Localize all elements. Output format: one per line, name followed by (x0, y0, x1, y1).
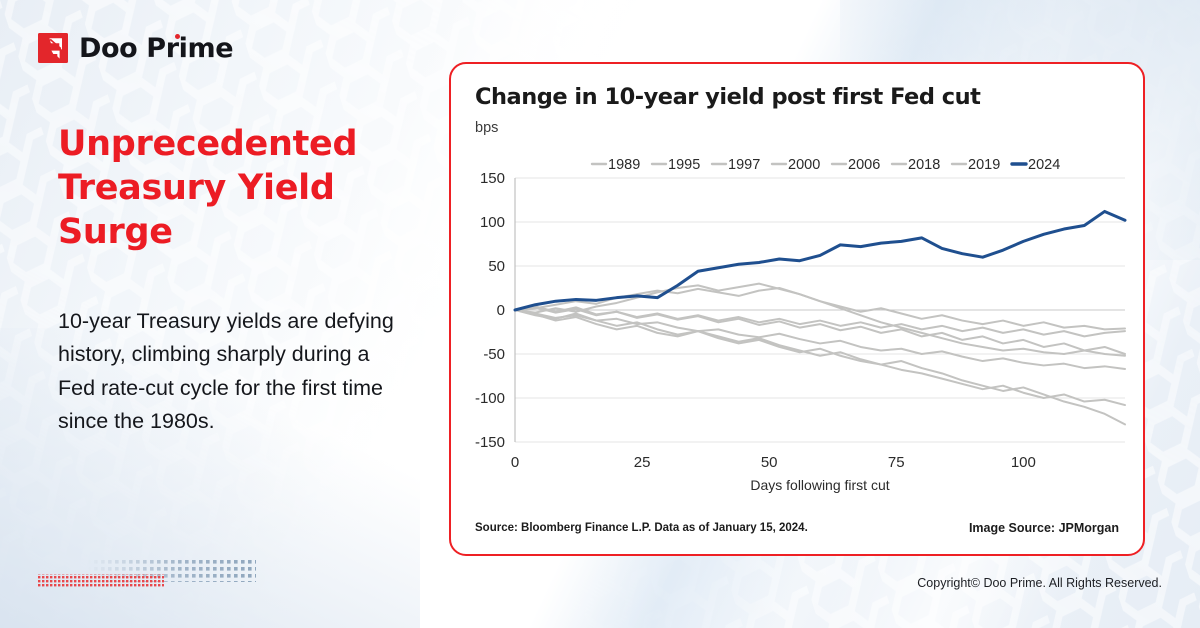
decorative-dot-pattern (38, 560, 256, 590)
x-axis-tick-label: 100 (1011, 454, 1036, 471)
x-axis-tick-label: 25 (634, 454, 651, 471)
y-axis-tick-label: -50 (483, 346, 505, 363)
series-line-2006 (515, 306, 1125, 336)
copyright-text: Copyright© Doo Prime. All Rights Reserve… (917, 576, 1162, 590)
x-axis-tick-label: 75 (888, 454, 905, 471)
x-axis-title: Days following first cut (750, 477, 889, 493)
legend-label-2000: 2000 (788, 157, 820, 173)
chart-card: Change in 10-year yield post first Fed c… (449, 62, 1145, 556)
series-line-2018 (515, 310, 1125, 424)
y-axis-tick-label: -150 (475, 434, 505, 451)
y-axis-tick-label: 0 (497, 302, 505, 319)
legend-label-1995: 1995 (668, 157, 700, 173)
chart-footer: Source: Bloomberg Finance L.P. Data as o… (451, 522, 1143, 540)
series-line-1989 (515, 310, 1125, 369)
legend-label-2006: 2006 (848, 157, 880, 173)
chart-units-label: bps (475, 120, 498, 136)
doo-prime-logo-mark (38, 33, 68, 63)
legend-label-1989: 1989 (608, 157, 640, 173)
y-axis-tick-label: 50 (488, 258, 505, 275)
series-line-2024 (515, 211, 1125, 310)
poster: Doo Prime Unprecedented Treasury Yield S… (0, 0, 1200, 628)
logo-accent-dot (175, 34, 180, 39)
y-axis-tick-label: 100 (480, 214, 505, 231)
y-axis-tick-label: -100 (475, 390, 505, 407)
chart-plot: 150100500-50-100-1500255075100Days follo… (459, 152, 1139, 497)
x-axis-tick-label: 50 (761, 454, 778, 471)
x-axis-tick-label: 0 (511, 454, 519, 471)
y-axis-tick-label: 150 (480, 170, 505, 187)
page-title: Unprecedented Treasury Yield Surge (58, 122, 418, 254)
brand-name: Doo Prime (79, 35, 233, 62)
legend-label-2019: 2019 (968, 157, 1000, 173)
chart-title: Change in 10-year yield post first Fed c… (475, 84, 980, 110)
legend-label-2024: 2024 (1028, 157, 1060, 173)
legend-label-2018: 2018 (908, 157, 940, 173)
chart-source-note: Source: Bloomberg Finance L.P. Data as o… (475, 522, 808, 534)
brand-logo[interactable]: Doo Prime (38, 33, 233, 63)
legend-label-1997: 1997 (728, 157, 760, 173)
series-line-2019 (515, 307, 1125, 354)
body-paragraph: 10-year Treasury yields are defying hist… (58, 305, 403, 438)
chart-image-source: Image Source: JPMorgan (969, 521, 1119, 535)
line-chart: 150100500-50-100-1500255075100Days follo… (459, 152, 1139, 497)
